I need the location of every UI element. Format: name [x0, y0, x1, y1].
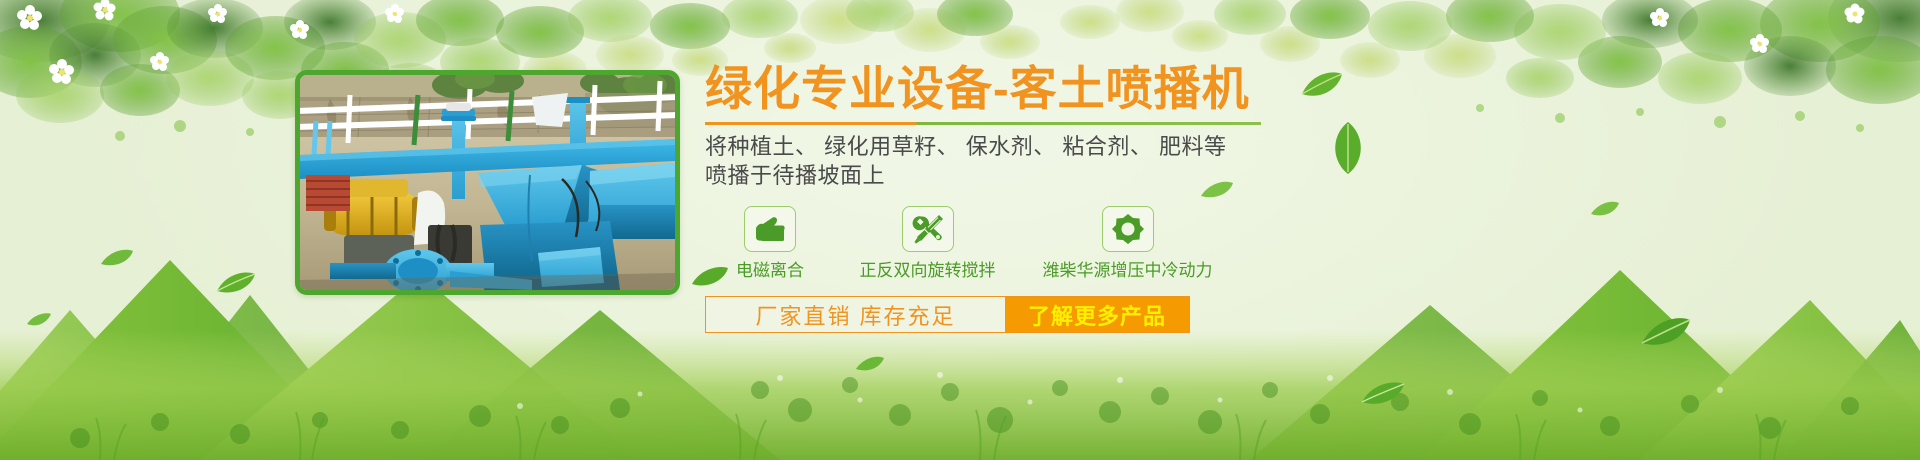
promo-banner: 绿化专业设备-客土喷播机 将种植土、 绿化用草籽、 保水剂、 粘合剂、 肥料等 … — [0, 0, 1920, 460]
subtitle-line-2: 喷播于待播坡面上 — [705, 161, 1705, 190]
page-title: 绿化专业设备-客土喷播机 — [705, 60, 1705, 118]
title-divider — [705, 122, 1261, 125]
learn-more-button[interactable]: 了解更多产品 — [1005, 297, 1189, 332]
feature-item-electromagnetic-clutch[interactable]: 电磁离合 — [705, 206, 835, 281]
subtitle-line-1: 将种植土、 绿化用草籽、 保水剂、 粘合剂、 肥料等 — [705, 132, 1705, 161]
banner-content: 绿化专业设备-客土喷播机 将种植土、 绿化用草籽、 保水剂、 粘合剂、 肥料等 … — [705, 60, 1705, 333]
feature-label: 潍柴华源增压中冷动力 — [1020, 261, 1235, 281]
cta-bar: 厂家直销 库存充足 了解更多产品 — [705, 296, 1190, 333]
feature-label: 电磁离合 — [705, 261, 835, 281]
product-photo-frame[interactable] — [295, 70, 680, 295]
feature-item-bidirectional-mixing[interactable]: 正反双向旋转搅拌 — [835, 206, 1020, 281]
floating-leaf-icon — [26, 312, 52, 328]
thumbs-up-icon — [744, 206, 796, 252]
feature-item-weichai-power[interactable]: 潍柴华源增压中冷动力 — [1020, 206, 1235, 281]
cta-slogan: 厂家直销 库存充足 — [706, 297, 1005, 332]
floating-leaf-icon — [1360, 380, 1406, 408]
feature-list: 电磁离合 — [705, 206, 1705, 281]
product-photo — [300, 75, 675, 290]
wrench-screwdriver-icon — [902, 206, 954, 252]
feature-label: 正反双向旋转搅拌 — [835, 261, 1020, 281]
floating-leaf-icon — [215, 270, 257, 296]
gear-icon — [1102, 206, 1154, 252]
grass-texture-decoration — [0, 330, 1920, 460]
floating-leaf-icon — [855, 355, 885, 373]
floating-leaf-icon — [100, 248, 134, 268]
